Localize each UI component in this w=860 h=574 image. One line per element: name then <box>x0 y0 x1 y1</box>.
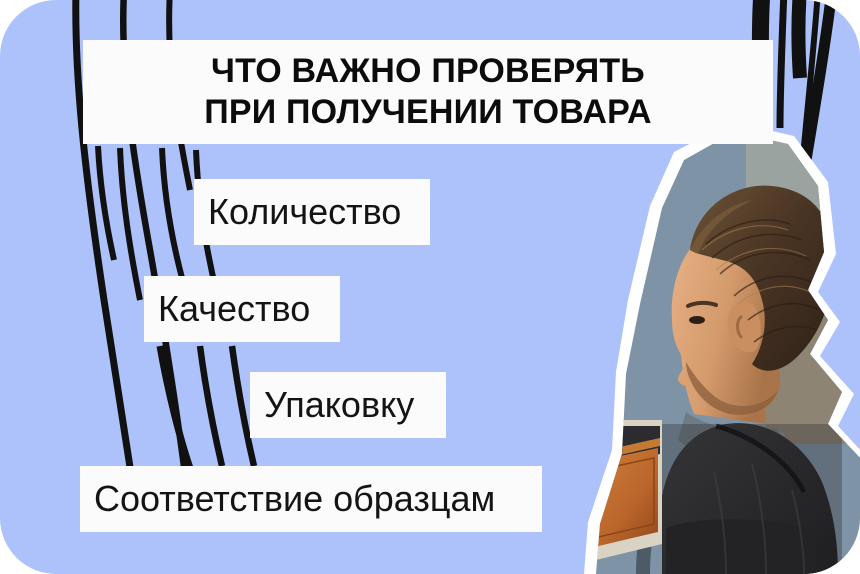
checklist-item-quality: Качество <box>144 276 340 342</box>
poster: ЧТО ВАЖНО ПРОВЕРЯТЬ ПРИ ПОЛУЧЕНИИ ТОВАРА… <box>0 0 860 574</box>
title-line-1: ЧТО ВАЖНО ПРОВЕРЯТЬ <box>211 51 645 92</box>
checklist-item-label: Качество <box>158 291 310 327</box>
checklist-item-label: Количество <box>208 194 401 230</box>
checklist-item-sample-conformity: Соответствие образцам <box>80 466 542 532</box>
poster-title-plate: ЧТО ВАЖНО ПРОВЕРЯТЬ ПРИ ПОЛУЧЕНИИ ТОВАРА <box>83 40 773 144</box>
title-line-2: ПРИ ПОЛУЧЕНИИ ТОВАРА <box>204 92 652 133</box>
photo-cutout <box>566 124 860 574</box>
checklist-item-quantity: Количество <box>194 179 430 245</box>
checklist-item-packaging: Упаковку <box>250 372 446 438</box>
poster-background: ЧТО ВАЖНО ПРОВЕРЯТЬ ПРИ ПОЛУЧЕНИИ ТОВАРА… <box>0 0 860 574</box>
checklist-item-label: Упаковку <box>264 387 414 423</box>
photo-businessman <box>566 124 860 574</box>
checklist-item-label: Соответствие образцам <box>94 481 495 517</box>
